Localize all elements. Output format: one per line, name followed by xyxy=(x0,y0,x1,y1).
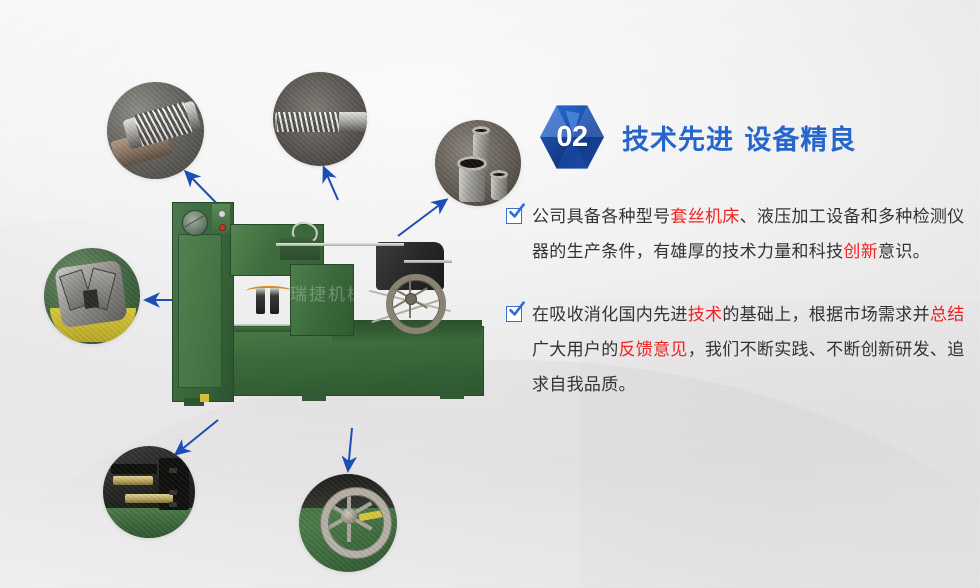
checkbox-checked-icon xyxy=(506,208,522,224)
checkbox-checked-icon xyxy=(506,306,522,322)
detail-handwheel xyxy=(299,474,397,572)
machine-emergency-button xyxy=(219,224,226,231)
text-run: 在吸收消化国内先进 xyxy=(532,305,688,325)
feature-bullet-item: 在吸收消化国内先进技术的基础上，根据市场需求并总结广大用户的反馈意见，我们不断实… xyxy=(506,298,974,403)
feature-text-2: 在吸收消化国内先进技术的基础上，根据市场需求并总结广大用户的反馈意见，我们不断实… xyxy=(532,305,965,395)
text-run: 套丝机床 xyxy=(670,207,739,227)
section-number-badge: 02 xyxy=(540,104,604,170)
check-mark-icon xyxy=(508,301,526,319)
text-run: 技术 xyxy=(688,305,723,325)
check-mark-icon xyxy=(508,203,526,221)
product-photo-collage: 瑞捷机械 xyxy=(0,0,510,588)
feature-text-1: 公司具备各种型号套丝机床、液压加工设备和多种检测仪器的生产条件，有雄厚的技术力量… xyxy=(532,207,965,262)
feature-bullet-list: 公司具备各种型号套丝机床、液压加工设备和多种检测仪器的生产条件，有雄厚的技术力量… xyxy=(506,200,974,403)
machine-fan-grill xyxy=(182,210,208,236)
text-run: 的基础上，根据市场需求并 xyxy=(722,305,930,325)
text-run: 总结 xyxy=(930,305,965,325)
text-run: 反馈意见 xyxy=(619,340,688,360)
machine-knob xyxy=(218,210,226,218)
photo-watermark: 瑞捷机械 xyxy=(280,280,376,305)
section-number-text: 02 xyxy=(540,104,604,170)
section-title: 技术先进 设备精良 xyxy=(622,118,856,157)
detail-threaded-bar xyxy=(273,72,367,166)
text-run: 意识。 xyxy=(878,242,930,262)
text-run: 创新 xyxy=(843,242,878,262)
content-panel: 02 技术先进 设备精良 公司具备各种型号套丝机床、液压加工设备和多种检测仪器的… xyxy=(506,104,974,403)
detail-die-head-chuck xyxy=(44,248,140,344)
promo-banner: 瑞捷机械 xyxy=(0,0,980,588)
feature-bullet-item: 公司具备各种型号套丝机床、液压加工设备和多种检测仪器的生产条件，有雄厚的技术力量… xyxy=(506,200,974,270)
detail-valve-fittings xyxy=(103,446,195,538)
text-run: 公司具备各种型号 xyxy=(532,207,670,227)
text-run: 广大用户的 xyxy=(532,340,619,360)
thread-rolling-machine-photo: 瑞捷机械 xyxy=(172,196,482,420)
detail-threaded-rod-closeup xyxy=(107,82,204,179)
section-heading: 02 技术先进 设备精良 xyxy=(506,104,974,170)
